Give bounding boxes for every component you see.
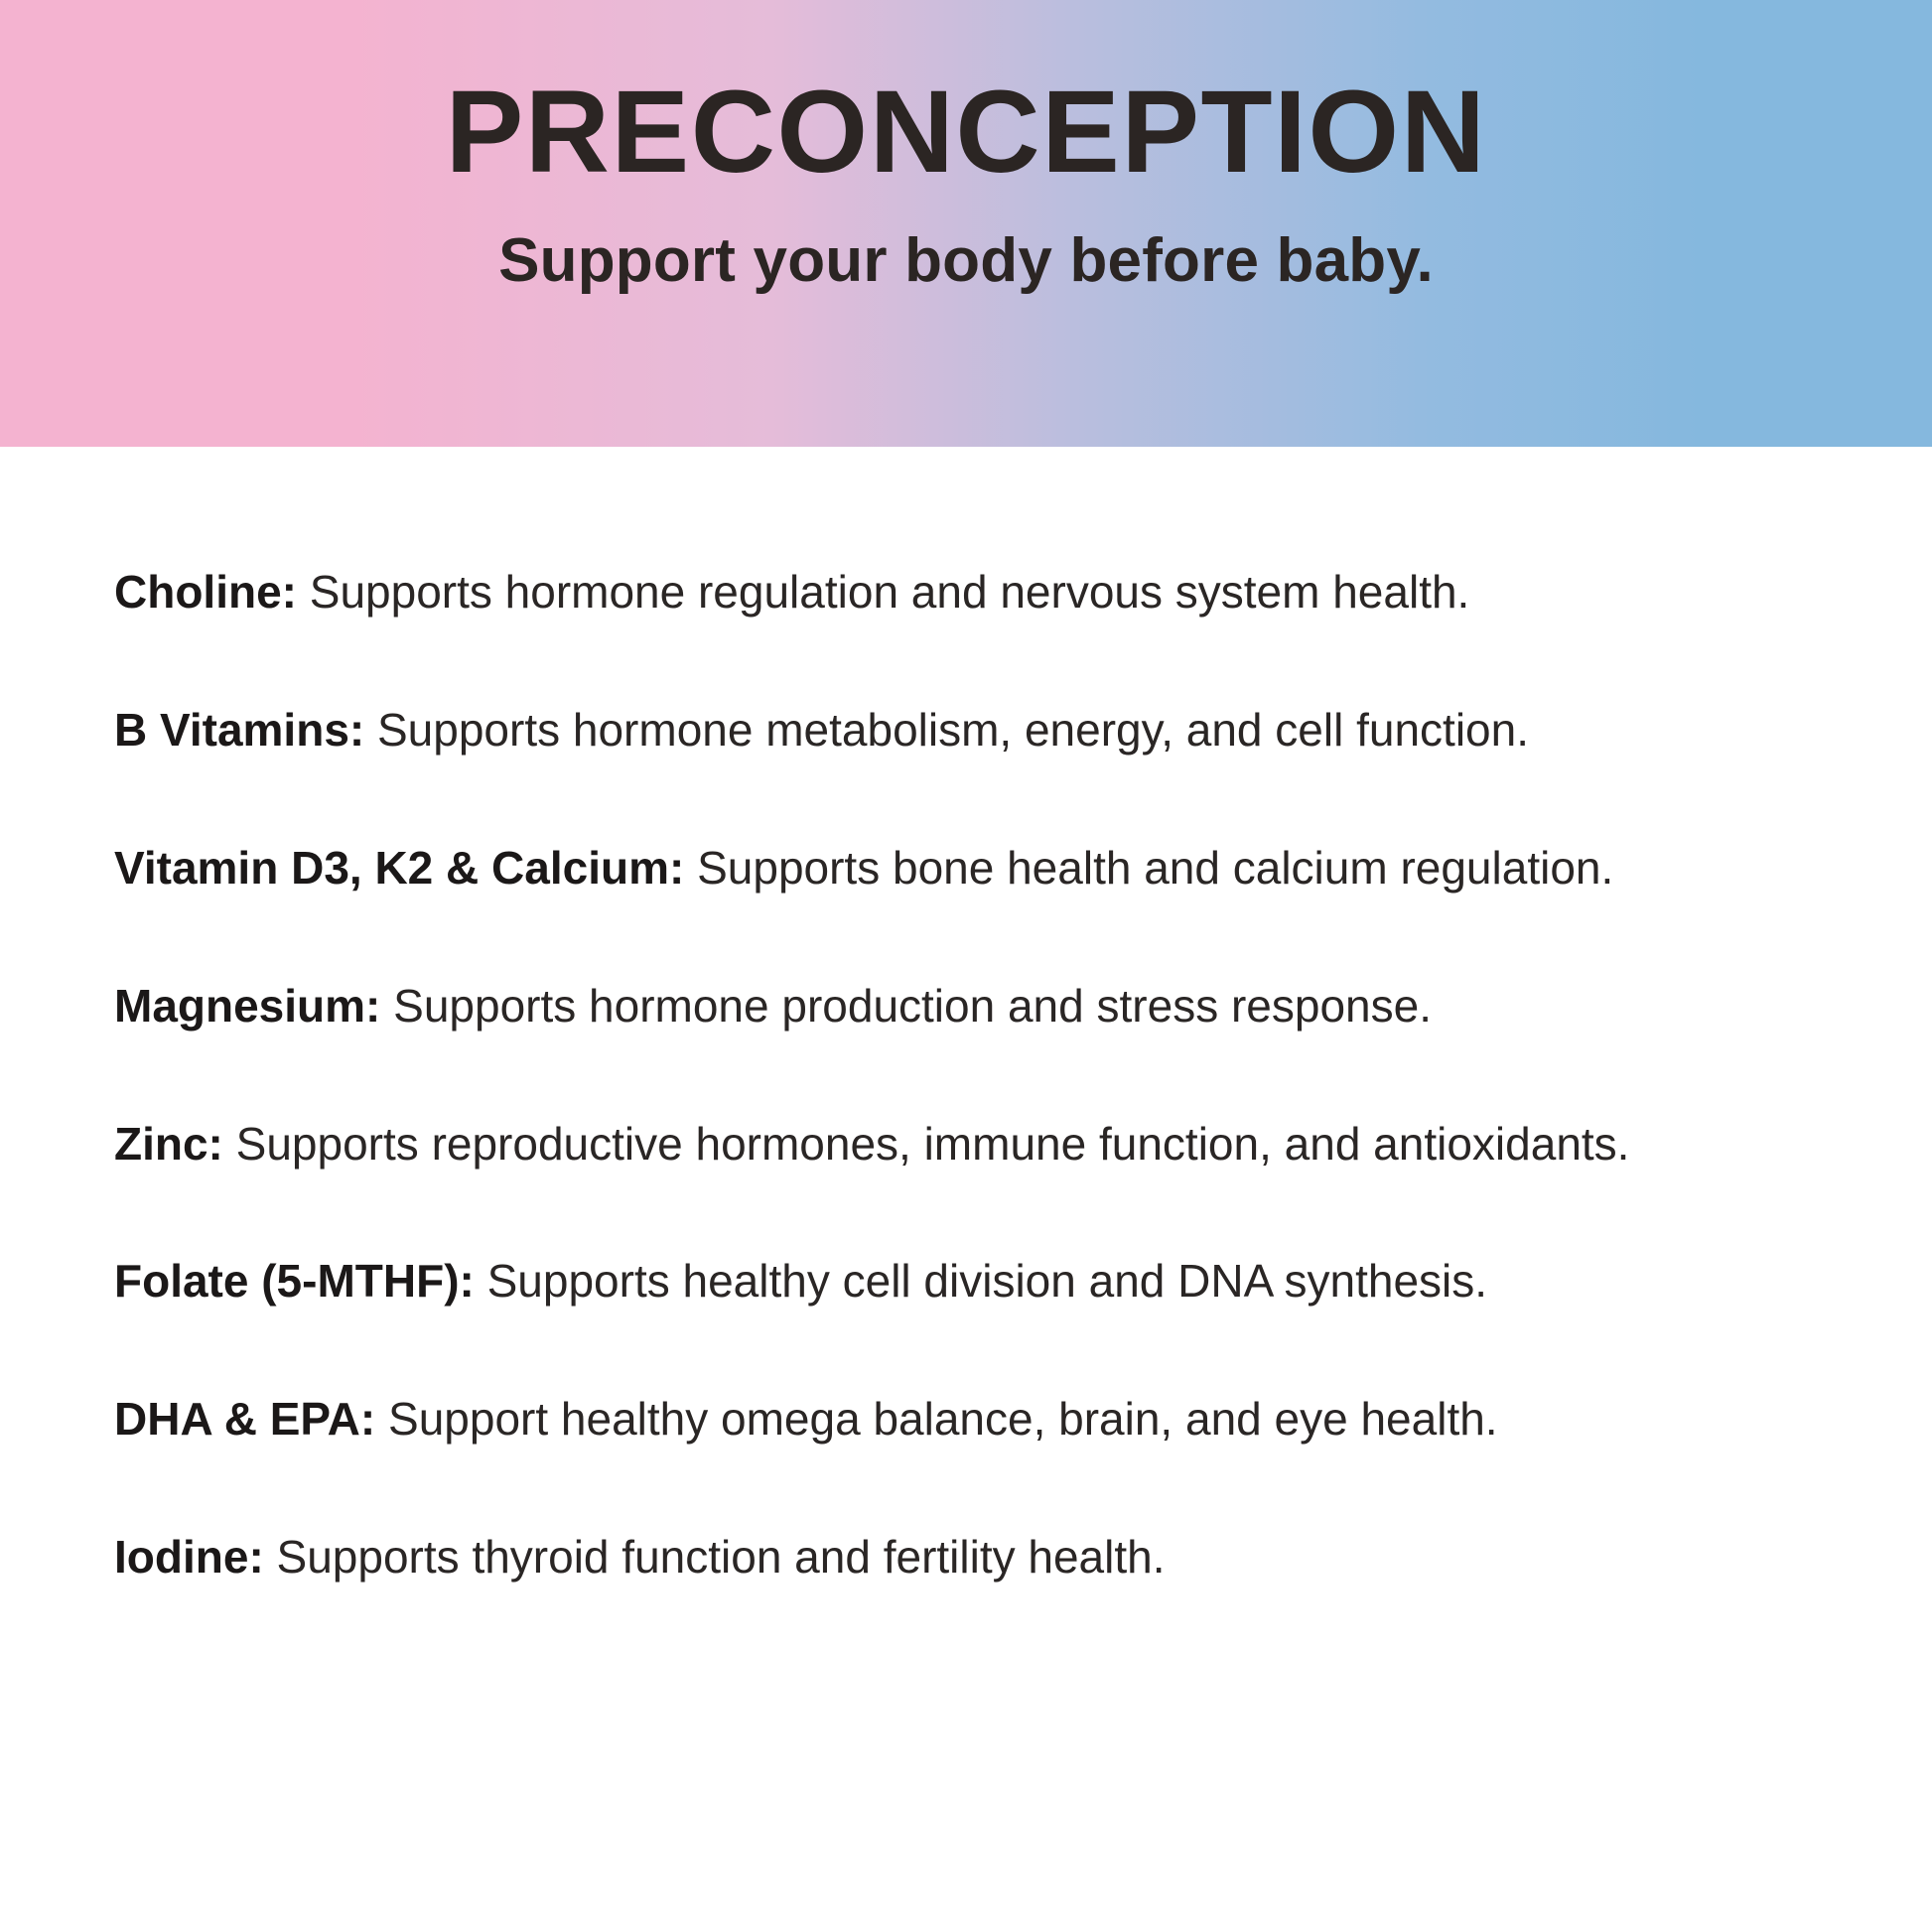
- benefit-label: Vitamin D3, K2 & Calcium:: [114, 842, 684, 894]
- list-item: Vitamin D3, K2 & Calcium: Supports bone …: [114, 842, 1818, 895]
- header-banner: PRECONCEPTION Support your body before b…: [0, 0, 1932, 447]
- benefit-label: Choline:: [114, 566, 297, 618]
- benefit-label: Zinc:: [114, 1118, 223, 1170]
- list-item: Zinc: Supports reproductive hormones, im…: [114, 1118, 1818, 1171]
- benefits-list: Choline: Supports hormone regulation and…: [0, 447, 1932, 1932]
- benefit-description: Supports hormone production and stress r…: [393, 980, 1432, 1032]
- benefit-description: Supports hormone metabolism, energy, and…: [377, 704, 1529, 756]
- benefit-label: B Vitamins:: [114, 704, 364, 756]
- benefit-description: Support healthy omega balance, brain, an…: [388, 1393, 1498, 1445]
- benefit-label: Magnesium:: [114, 980, 380, 1032]
- benefit-description: Supports hormone regulation and nervous …: [310, 566, 1470, 618]
- page-title: PRECONCEPTION: [446, 73, 1487, 191]
- benefit-label: DHA & EPA:: [114, 1393, 375, 1445]
- benefit-label: Iodine:: [114, 1531, 264, 1583]
- preconception-infographic: PRECONCEPTION Support your body before b…: [0, 0, 1932, 1932]
- benefit-label: Folate (5-MTHF):: [114, 1255, 475, 1307]
- list-item: Choline: Supports hormone regulation and…: [114, 566, 1818, 619]
- benefit-description: Supports reproductive hormones, immune f…: [236, 1118, 1630, 1170]
- list-item: Iodine: Supports thyroid function and fe…: [114, 1531, 1818, 1584]
- benefit-description: Supports bone health and calcium regulat…: [697, 842, 1613, 894]
- list-item: Magnesium: Supports hormone production a…: [114, 980, 1818, 1033]
- page-subtitle: Support your body before baby.: [498, 230, 1434, 292]
- list-item: B Vitamins: Supports hormone metabolism,…: [114, 704, 1818, 757]
- list-item: Folate (5-MTHF): Supports healthy cell d…: [114, 1255, 1818, 1308]
- benefit-description: Supports thyroid function and fertility …: [277, 1531, 1166, 1583]
- benefit-description: Supports healthy cell division and DNA s…: [487, 1255, 1487, 1307]
- list-item: DHA & EPA: Support healthy omega balance…: [114, 1393, 1818, 1446]
